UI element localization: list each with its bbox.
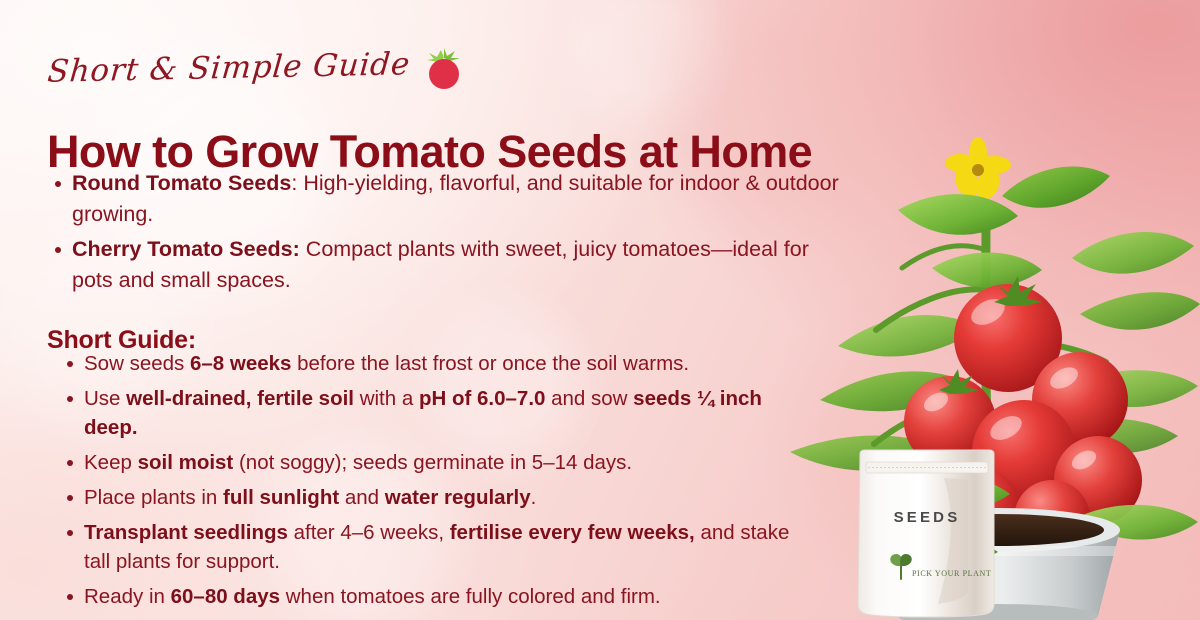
guide-step-text: Use — [84, 387, 126, 410]
guide-step-text: Ready in — [84, 585, 171, 608]
guide-step-emphasis: well-drained, fertile soil — [126, 387, 354, 410]
tomato-icon — [424, 46, 464, 90]
guide-step-text: (not soggy); seeds germinate in 5–14 day… — [233, 451, 632, 474]
seed-type-label: Round Tomato Seeds — [72, 171, 291, 195]
guide-step-item: Keep soil moist (not soggy); seeds germi… — [56, 448, 796, 478]
tomato-body — [429, 59, 459, 89]
guide-step-emphasis: full sunlight — [223, 486, 339, 509]
guide-step-item: Transplant seedlings after 4–6 weeks, fe… — [56, 518, 796, 577]
guide-step-text: and sow — [545, 387, 633, 410]
guide-step-text: Keep — [84, 451, 138, 474]
tomato-flower — [945, 137, 1011, 203]
seed-packet: SEEDS PICK YOUR PLANT — [852, 448, 1002, 620]
guide-step-emphasis: water regularly — [385, 486, 531, 509]
packet-brand: PICK YOUR PLANT — [912, 569, 991, 578]
packet-title: SEEDS — [894, 509, 961, 526]
guide-step-emphasis: soil moist — [138, 451, 234, 474]
seed-type-item: Round Tomato Seeds: High-yielding, flavo… — [44, 168, 844, 230]
guide-step-text: when tomatoes are fully colored and firm… — [280, 585, 661, 608]
guide-step-text: Sow seeds — [84, 352, 190, 375]
eyebrow: Short & Simple Guide — [48, 42, 464, 94]
eyebrow-text: Short & Simple Guide — [46, 46, 412, 90]
guide-step-text: and — [339, 486, 385, 509]
guide-steps-list: Sow seeds 6–8 weeks before the last fros… — [56, 349, 796, 617]
guide-step-item: Ready in 60–80 days when tomatoes are fu… — [56, 582, 796, 612]
guide-step-emphasis: fertilise every few weeks, — [450, 521, 695, 544]
infographic-canvas: SEEDS PICK YOUR PLANT Short & Simple Gui… — [0, 0, 1200, 620]
guide-step-emphasis: 60–80 days — [171, 585, 280, 608]
guide-step-item: Sow seeds 6–8 weeks before the last fros… — [56, 349, 796, 379]
guide-step-text: after 4–6 weeks, — [288, 521, 450, 544]
guide-step-emphasis: 6–8 weeks — [190, 352, 291, 375]
guide-step-item: Use well-drained, fertile soil with a pH… — [56, 384, 796, 443]
seed-type-item: Cherry Tomato Seeds: Compact plants with… — [44, 234, 844, 296]
guide-step-text: . — [531, 486, 537, 509]
leaf-cluster-mid — [898, 166, 1110, 287]
guide-step-text: with a — [354, 387, 419, 410]
seed-type-label: Cherry Tomato Seeds: — [72, 237, 300, 261]
seed-types-list: Round Tomato Seeds: High-yielding, flavo… — [44, 168, 844, 300]
guide-step-emphasis: pH of 6.0–7.0 — [419, 387, 545, 410]
guide-step-text: Place plants in — [84, 486, 223, 509]
guide-step-text: before the last frost or once the soil w… — [291, 352, 689, 375]
guide-step-item: Place plants in full sunlight and water … — [56, 483, 796, 513]
guide-step-emphasis: Transplant seedlings — [84, 521, 288, 544]
